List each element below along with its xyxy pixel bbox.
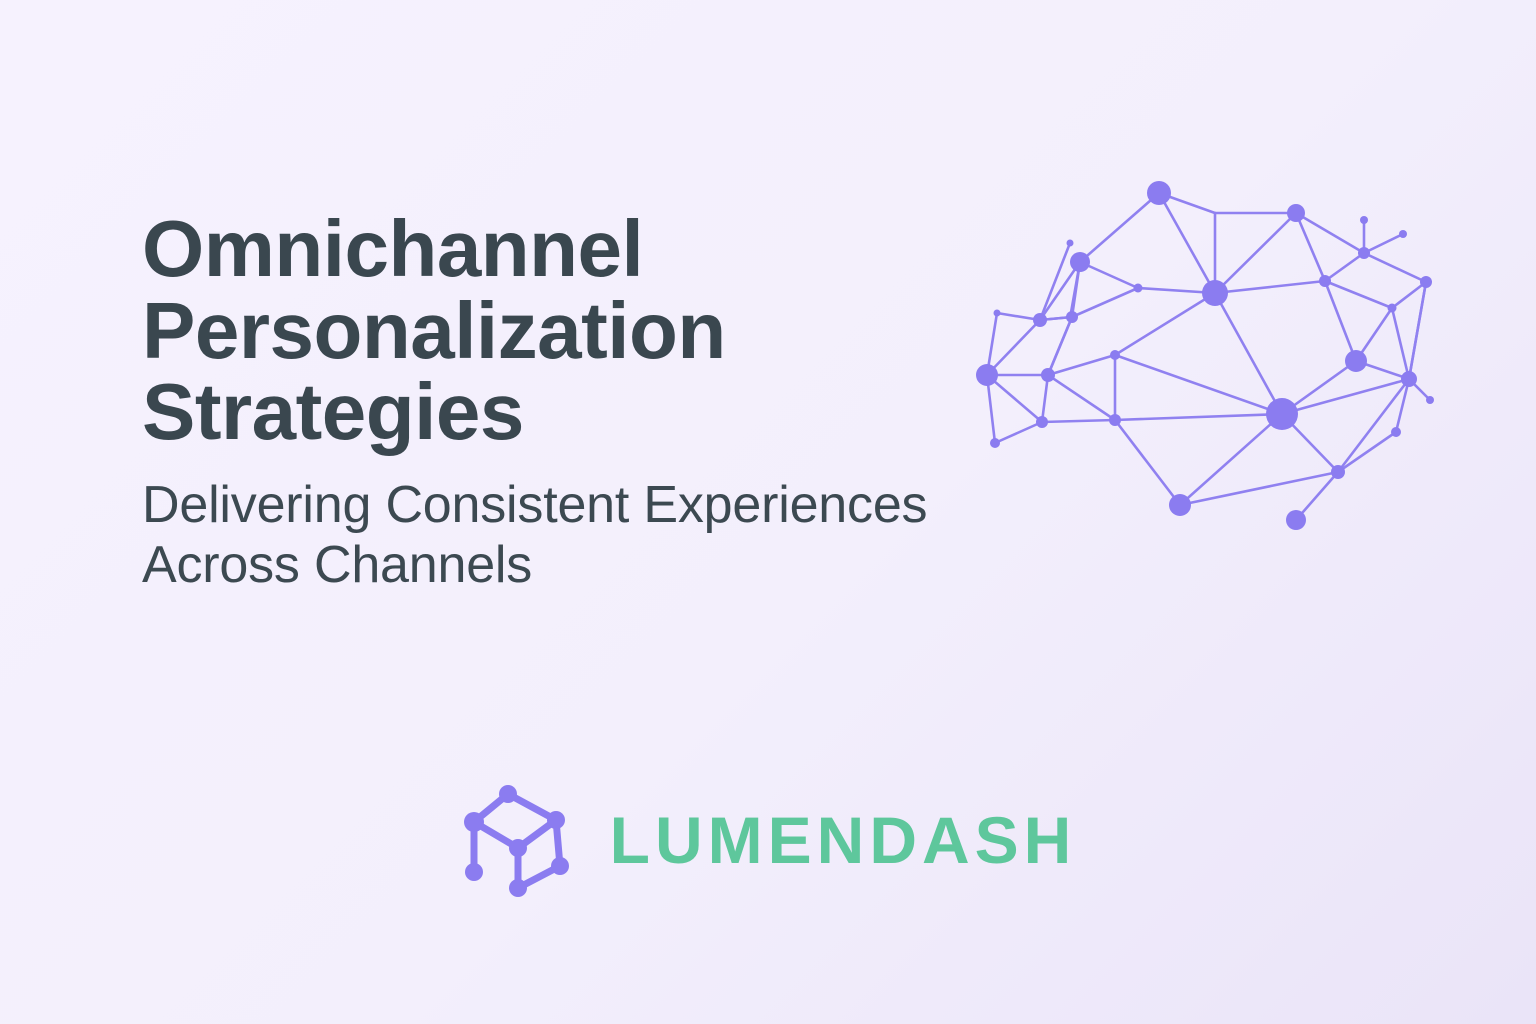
brand-lockup: LUMENDASH xyxy=(0,780,1536,900)
network-nodes xyxy=(976,181,1434,530)
headline-block: Omnichannel Personalization Strategies D… xyxy=(142,208,1042,595)
slide-canvas: Omnichannel Personalization Strategies D… xyxy=(0,0,1536,1024)
brand-wordmark: LUMENDASH xyxy=(610,807,1077,873)
lumendash-cube-node-logo-icon xyxy=(460,780,584,900)
page-subtitle: Delivering Consistent Experiences Across… xyxy=(142,475,1042,596)
brain-network-graphic xyxy=(960,160,1460,560)
page-title: Omnichannel Personalization Strategies xyxy=(142,208,1042,453)
